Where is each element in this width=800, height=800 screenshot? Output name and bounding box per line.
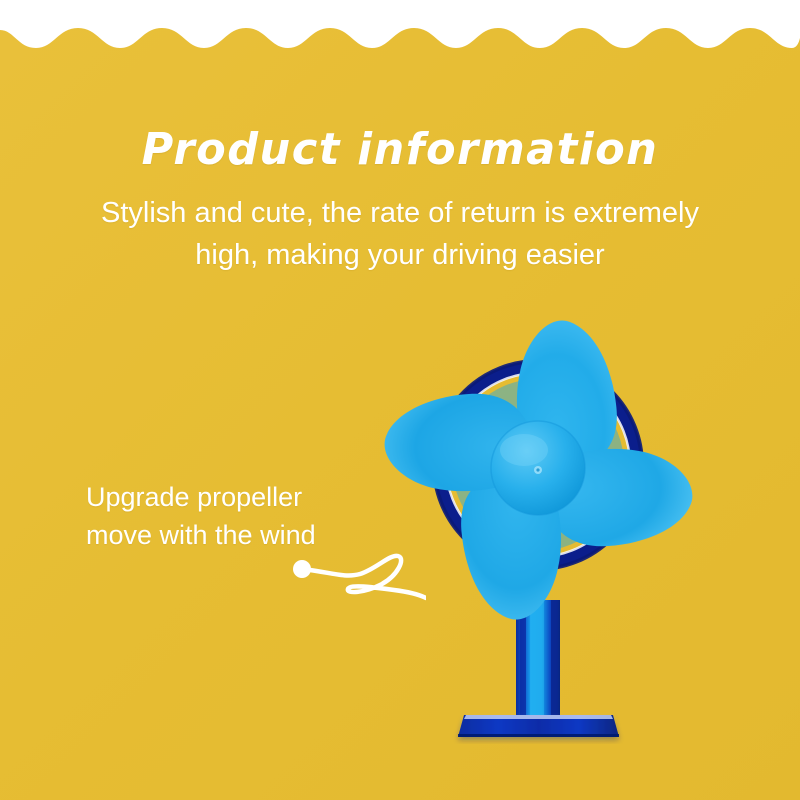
page-subtitle: Stylish and cute, the rate of return is … xyxy=(60,192,740,276)
fan-base xyxy=(458,715,619,737)
product-information-banner: Product information Stylish and cute, th… xyxy=(0,0,800,800)
page-title: Product information xyxy=(8,126,792,174)
feature-caption-line-1: Upgrade propeller xyxy=(86,478,316,516)
fan-product-image xyxy=(370,300,710,750)
subtitle-line-1: Stylish and cute, the rate of return is … xyxy=(60,192,740,234)
subtitle-line-2: high, making your driving easier xyxy=(60,234,740,276)
fan-hub xyxy=(491,421,585,515)
feature-caption: Upgrade propeller move with the wind xyxy=(86,478,316,554)
feature-caption-line-2: move with the wind xyxy=(86,516,316,554)
